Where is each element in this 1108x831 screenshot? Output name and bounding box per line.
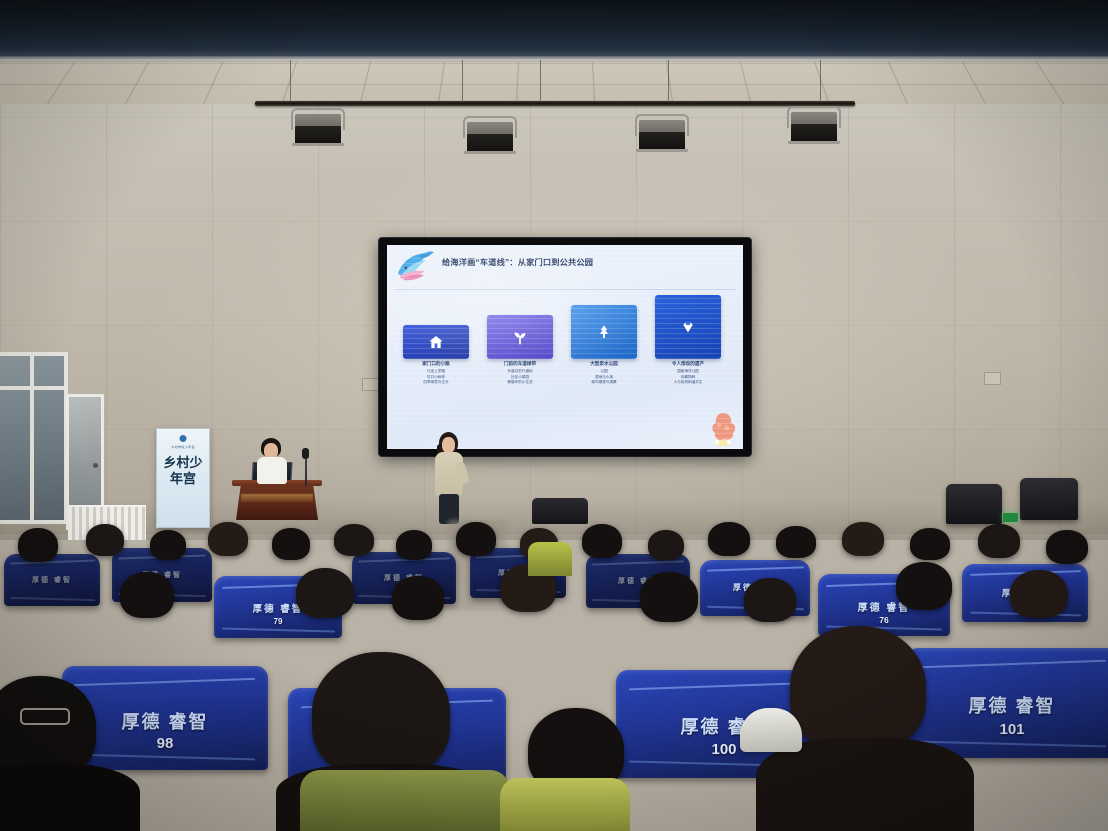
banner-calligraphy: 乡村少年宫 [163,455,203,488]
seat-piping [74,677,255,685]
eyeglasses [20,708,70,725]
audience-head [86,524,124,556]
speaker-at-podium [252,438,292,490]
slide-card: 家门口的小路 行走上学路 村口小树林 四季绿意与生长 [403,325,469,359]
standing-presenter [427,432,471,524]
seat-piping [919,740,1106,747]
card-tile [487,315,553,359]
audience-jacket [300,770,510,831]
audience-shoulders [0,764,140,831]
dolphin-logo [392,248,438,284]
stage-light [462,116,518,154]
seat-motto: 厚德 睿智 [4,575,100,585]
stage-light [634,114,690,152]
audience-head [120,572,174,618]
truss-wire [820,60,821,102]
auditorium-photo: 乡村学校少年宫 乡村少年宫 给海洋画“车道线”：从家门口到公共公园 [0,0,1108,831]
seat-piping [919,660,1106,669]
banner-header: 乡村学校少年宫 [157,444,209,449]
torso [257,457,287,484]
audience-head [392,576,444,620]
diamond-icon [680,319,696,335]
side-window [0,352,68,524]
audience-head [150,530,186,560]
audience-head [910,528,950,560]
truss-wire [540,60,541,102]
slide-card: 大型亲水公园 公园 湿地与小溪 候鸟栖息与观察 [571,305,637,359]
ceiling [0,0,1108,62]
auditorium-seat[interactable]: 厚德 睿智 [4,554,100,606]
card-caption: 令人惊叹的遗产 [639,362,737,367]
audience-head [334,524,374,556]
audience-head-foreground [312,652,450,778]
stage-light [786,106,842,144]
card-tile [403,325,469,359]
seat-number: 79 [214,617,342,626]
wall-outlet-plate [984,372,1001,385]
audience-head-foreground [790,626,926,752]
truss-wire [290,60,291,102]
wall-outlet-plate [362,378,379,391]
audience-head [1046,530,1088,564]
slide-card: 令人惊叹的遗产 国家海洋公园 珍稀物种 人与自然和谐共生 [655,295,721,359]
auditorium-seat[interactable]: 厚德 睿智101 [906,648,1108,758]
slide-card: 门前的车道绿带 车道边的行道树 社区小菜园 微循环的小生态 [487,315,553,359]
roll-up-banner: 乡村学校少年宫 乡村少年宫 [156,428,210,528]
audience-head [744,578,796,622]
audience-seating: 厚德 睿智厚德 睿智厚德 睿智79厚德 睿智厚德 睿智厚德 睿智厚德 睿智厚德 … [0,520,1108,831]
audience-head [1010,570,1068,618]
seat-piping [10,560,95,565]
audience-head [776,526,816,558]
slide-title: 给海洋画“车道线”：从家门口到公共公园 [442,258,737,267]
seat-piping [74,753,255,760]
seat-motto: 厚德 睿智 [906,692,1108,718]
stage-light-truss [255,101,855,106]
audience-head [640,572,698,622]
banner-emblem [180,435,187,442]
slide-card-row: 家门口的小路 行走上学路 村口小树林 四季绿意与生长 门前的车道绿带 车道边的行… [397,297,735,397]
audience-head [208,522,248,556]
podium-nameplate [241,494,313,502]
seat-piping [222,627,335,632]
audience-jacket [500,778,630,831]
audience-head [842,522,884,556]
audience-head [296,568,354,618]
microphone-head [302,448,309,459]
seat-number: 76 [818,615,950,625]
title-divider [395,289,735,290]
audience-head [272,528,310,560]
audience-cap [740,708,802,752]
seat-number: 101 [906,721,1108,738]
slide-content: 给海洋画“车道线”：从家门口到公共公园 家门口的小路 行走上学路 村口小树林 四… [387,245,743,449]
tree-icon [596,324,612,340]
stage-light [290,108,346,146]
audience-head [18,528,58,562]
seat-piping [707,566,804,571]
card-tile [571,305,637,359]
sprout-icon [512,329,528,345]
seat-piping [592,560,684,565]
card-tile [655,295,721,359]
audience-head [456,522,496,556]
audience-head [896,562,952,610]
door-knob[interactable] [93,463,98,468]
audience-head [708,522,750,556]
side-chair [1020,478,1078,520]
audience-jacket [528,542,572,576]
coral-mascot [706,409,740,447]
audience-head [582,524,622,558]
seat-piping [10,597,95,601]
side-chair [946,484,1002,524]
audience-head [648,530,684,560]
truss-wire [462,60,463,102]
audience-head [396,530,432,560]
home-icon [428,334,444,350]
projection-screen: 给海洋画“车道线”：从家门口到公共公园 家门口的小路 行走上学路 村口小树林 四… [379,238,751,456]
truss-wire [668,60,669,102]
card-sublines: 国家海洋公园 珍稀物种 人与自然和谐共生 [635,369,741,386]
head [442,437,455,453]
audience-head [978,524,1020,558]
